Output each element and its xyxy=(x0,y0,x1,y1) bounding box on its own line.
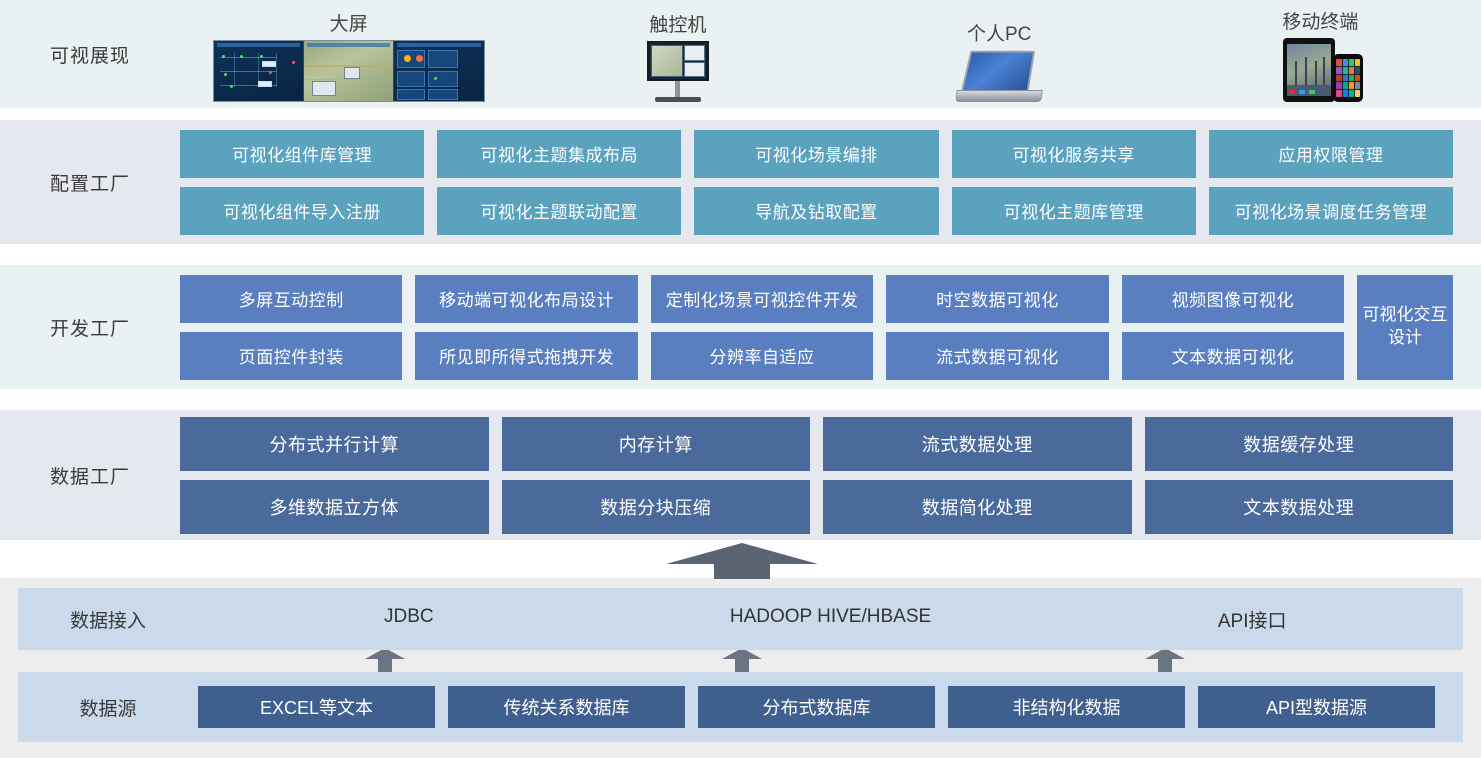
access-item-jdbc[interactable]: JDBC xyxy=(198,606,620,633)
device-mobile-terminal: 移动终端 xyxy=(1160,7,1481,102)
data-row-2: 多维数据立方体 数据分块压缩 数据简化处理 文本数据处理 xyxy=(180,480,1453,534)
config-cell[interactable]: 可视化服务共享 xyxy=(952,130,1196,178)
small-up-arrow-icon xyxy=(722,648,762,672)
layer-label-visual: 可视展现 xyxy=(0,41,180,68)
access-item-hadoop[interactable]: HADOOP HIVE/HBASE xyxy=(620,606,1042,633)
dev-cell[interactable]: 移动端可视化布局设计 xyxy=(415,275,637,323)
dev-cell[interactable]: 所见即所得式拖拽开发 xyxy=(415,332,637,380)
source-item[interactable]: 非结构化数据 xyxy=(948,686,1185,728)
config-grid: 可视化组件库管理 可视化主题集成布局 可视化场景编排 可视化服务共享 应用权限管… xyxy=(180,130,1481,235)
device-touch-kiosk: 触控机 xyxy=(517,10,838,102)
small-up-arrow-icon xyxy=(1145,648,1185,672)
video-wall-icon xyxy=(213,40,485,102)
config-row-2: 可视化组件导入注册 可视化主题联动配置 导航及钻取配置 可视化主题库管理 可视化… xyxy=(180,187,1453,235)
device-caption-pc: 个人PC xyxy=(967,19,1031,46)
data-cell[interactable]: 数据分块压缩 xyxy=(502,480,811,534)
layer-dev-factory: 开发工厂 多屏互动控制 移动端可视化布局设计 定制化场景可视控件开发 时空数据可… xyxy=(0,265,1481,389)
layer-data-source: 数据源 EXCEL等文本 传统关系数据库 分布式数据库 非结构化数据 API型数… xyxy=(0,672,1481,742)
dev-cell[interactable]: 页面控件封装 xyxy=(180,332,402,380)
config-row-1: 可视化组件库管理 可视化主题集成布局 可视化场景编排 可视化服务共享 应用权限管… xyxy=(180,130,1453,178)
dev-row-2: 页面控件封装 所见即所得式拖拽开发 分辨率自适应 流式数据可视化 文本数据可视化 xyxy=(180,332,1344,380)
config-cell[interactable]: 应用权限管理 xyxy=(1209,130,1453,178)
source-item[interactable]: API型数据源 xyxy=(1198,686,1435,728)
layer-label-access: 数据接入 xyxy=(18,606,198,633)
dev-row-1: 多屏互动控制 移动端可视化布局设计 定制化场景可视控件开发 时空数据可视化 视频… xyxy=(180,275,1344,323)
source-item-list: EXCEL等文本 传统关系数据库 分布式数据库 非结构化数据 API型数据源 xyxy=(198,686,1463,728)
data-grid: 分布式并行计算 内存计算 流式数据处理 数据缓存处理 多维数据立方体 数据分块压… xyxy=(180,417,1481,534)
device-caption-mobile: 移动终端 xyxy=(1282,7,1358,34)
layer-label-source: 数据源 xyxy=(18,694,198,721)
architecture-diagram: 可视展现 大屏 xyxy=(0,0,1481,758)
layer-label-config: 配置工厂 xyxy=(0,169,180,196)
data-cell[interactable]: 多维数据立方体 xyxy=(180,480,489,534)
layer-data-access: 数据接入 JDBC HADOOP HIVE/HBASE API接口 xyxy=(0,588,1481,650)
layer-label-data: 数据工厂 xyxy=(0,462,180,489)
access-item-api[interactable]: API接口 xyxy=(1041,606,1463,633)
dev-cell[interactable]: 文本数据可视化 xyxy=(1122,332,1344,380)
config-cell[interactable]: 可视化组件导入注册 xyxy=(180,187,424,235)
config-cell[interactable]: 导航及钻取配置 xyxy=(694,187,938,235)
data-cell[interactable]: 分布式并行计算 xyxy=(180,417,489,471)
small-up-arrow-icon xyxy=(365,648,405,672)
tablet-phone-icon xyxy=(1277,38,1363,102)
dev-cell[interactable]: 视频图像可视化 xyxy=(1122,275,1344,323)
data-cell[interactable]: 数据缓存处理 xyxy=(1145,417,1454,471)
dev-cell[interactable]: 时空数据可视化 xyxy=(886,275,1108,323)
layer-data-factory: 数据工厂 分布式并行计算 内存计算 流式数据处理 数据缓存处理 多维数据立方体 … xyxy=(0,410,1481,540)
device-caption-touch-kiosk: 触控机 xyxy=(649,10,706,37)
config-cell[interactable]: 可视化主题库管理 xyxy=(952,187,1196,235)
device-strip: 大屏 xyxy=(180,0,1481,108)
data-row-1: 分布式并行计算 内存计算 流式数据处理 数据缓存处理 xyxy=(180,417,1453,471)
dev-cell[interactable]: 多屏互动控制 xyxy=(180,275,402,323)
data-cell[interactable]: 文本数据处理 xyxy=(1145,480,1454,534)
layer-config-factory: 配置工厂 可视化组件库管理 可视化主题集成布局 可视化场景编排 可视化服务共享 … xyxy=(0,120,1481,244)
device-video-wall: 大屏 xyxy=(180,9,517,102)
config-cell[interactable]: 可视化组件库管理 xyxy=(180,130,424,178)
phone-app-grid xyxy=(1336,59,1360,97)
config-cell[interactable]: 可视化主题集成布局 xyxy=(437,130,681,178)
config-cell[interactable]: 可视化主题联动配置 xyxy=(437,187,681,235)
source-item[interactable]: EXCEL等文本 xyxy=(198,686,435,728)
touch-kiosk-icon xyxy=(647,41,709,102)
source-item[interactable]: 传统关系数据库 xyxy=(448,686,685,728)
laptop-icon xyxy=(956,50,1042,102)
access-item-list: JDBC HADOOP HIVE/HBASE API接口 xyxy=(198,606,1463,633)
data-cell[interactable]: 数据简化处理 xyxy=(823,480,1132,534)
device-caption-big-screen: 大屏 xyxy=(330,9,368,36)
config-cell[interactable]: 可视化场景编排 xyxy=(694,130,938,178)
layer-label-dev: 开发工厂 xyxy=(0,314,180,341)
dev-grid: 多屏互动控制 移动端可视化布局设计 定制化场景可视控件开发 时空数据可视化 视频… xyxy=(180,275,1481,380)
big-up-arrow-icon xyxy=(666,543,818,579)
layer-visual-presentation: 可视展现 大屏 xyxy=(0,0,1481,108)
data-cell[interactable]: 内存计算 xyxy=(502,417,811,471)
dev-cell[interactable]: 定制化场景可视控件开发 xyxy=(651,275,873,323)
data-cell[interactable]: 流式数据处理 xyxy=(823,417,1132,471)
source-item[interactable]: 分布式数据库 xyxy=(698,686,935,728)
config-cell[interactable]: 可视化场景调度任务管理 xyxy=(1209,187,1453,235)
device-personal-pc: 个人PC xyxy=(839,19,1160,102)
dev-cell-interaction-design[interactable]: 可视化交互设计 xyxy=(1357,275,1453,380)
dev-cell[interactable]: 流式数据可视化 xyxy=(886,332,1108,380)
dev-cell[interactable]: 分辨率自适应 xyxy=(651,332,873,380)
